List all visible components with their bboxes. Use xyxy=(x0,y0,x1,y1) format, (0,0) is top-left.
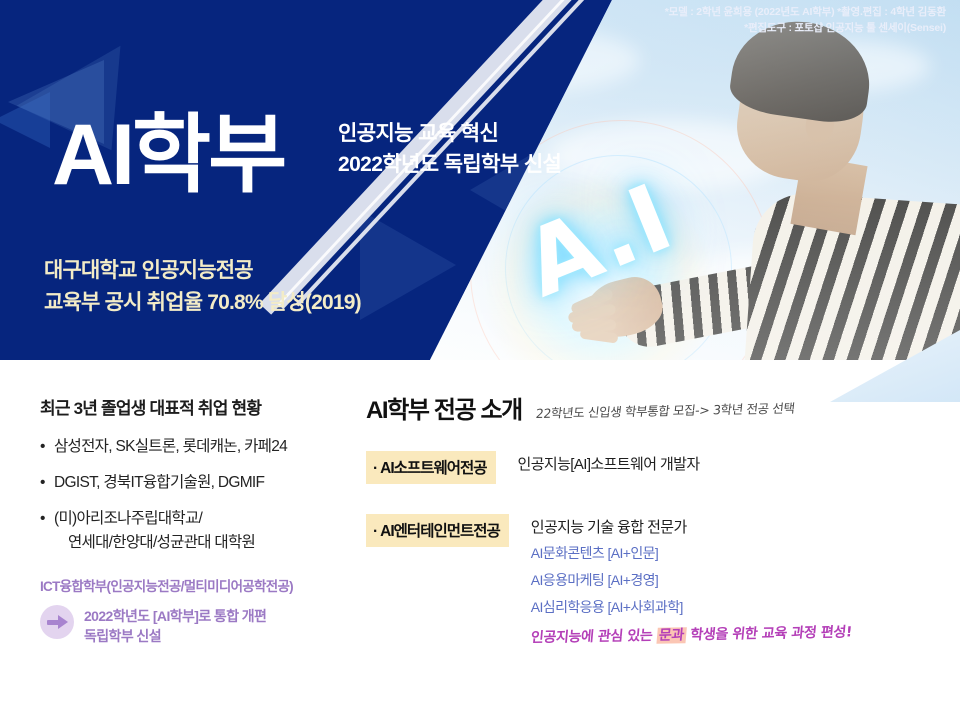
list-item: • (미)아리조나주립대학교/ 연세대/한양대/성균관대 대학원 xyxy=(40,507,350,555)
majors-handwritten-note: 22학년도 신입생 학부통합 모집-> 3학년 전공 선택 xyxy=(535,398,796,422)
employment-column: 최근 3년 졸업생 대표적 취업 현황 • 삼성전자, SK실트론, 롯데캐논,… xyxy=(40,394,350,567)
bullet-icon: • xyxy=(40,507,54,555)
majors-footer-note: 인공지능에 관심 있는 문과 학생을 위한 교육 과정 편성! xyxy=(530,621,853,647)
major-headline: 인공지능[AI]소프트웨어 개발자 xyxy=(518,454,700,475)
major-track: AI심리학응용 [AI+사회과학] xyxy=(531,595,851,619)
ict-title: ICT융합학부(인공지능전공/멀티미디어공학전공) xyxy=(40,575,370,595)
hero-title: AI학부 xyxy=(52,114,284,197)
ict-note: 2022학년도 [AI학부]로 통합 개편 독립학부 신설 xyxy=(84,604,266,647)
list-item-text: DGIST, 경북IT융합기술원, DGMIF xyxy=(54,471,350,495)
hero-footer-line-2: 교육부 공시 취업율 70.8% 달성(2019) xyxy=(44,287,361,319)
majors-column: AI학부 전공 소개 22학년도 신입생 학부통합 모집-> 3학년 전공 선택… xyxy=(366,390,936,677)
decorative-triangle-5 xyxy=(360,210,456,320)
list-item-text-main: (미)아리조나주립대학교/ xyxy=(54,510,202,527)
chip-bullet-icon: · xyxy=(373,523,377,540)
major-chip: ·AI소프트웨어전공 xyxy=(366,451,496,484)
credits-line-1: *모델 : 2학년 윤희용 (2022년도 AI학부) *촬영.편집 : 4학년… xyxy=(665,5,946,21)
major-chip: ·AI엔터테인먼트전공 xyxy=(366,514,509,547)
list-item: • DGIST, 경북IT융합기술원, DGMIF xyxy=(40,471,350,495)
footer-note-highlight: 문과 xyxy=(656,627,686,644)
major-item: ·AI엔터테인먼트전공 인공지능 기술 융합 전문가 AI문화콘텐츠 [AI+인… xyxy=(366,514,936,647)
arrow-right-icon xyxy=(40,605,74,639)
major-item: ·AI소프트웨어전공 인공지능[AI]소프트웨어 개발자 xyxy=(366,451,936,484)
ict-note-row: 2022학년도 [AI학부]로 통합 개편 독립학부 신설 xyxy=(40,604,370,647)
hero-banner: A.I *모델 : 2학년 윤희용 (2022년도 AI학부) *촬영.편집 :… xyxy=(0,0,960,360)
majors-heading: AI학부 전공 소개 xyxy=(366,390,522,425)
hero-footer: 대구대학교 인공지능전공 교육부 공시 취업율 70.8% 달성(2019) xyxy=(44,255,361,318)
major-description: 인공지능[AI]소프트웨어 개발자 xyxy=(518,451,700,475)
ict-note-line-1: 2022학년도 [AI학부]로 통합 개편 xyxy=(84,606,266,626)
chip-bullet-icon: · xyxy=(373,460,377,477)
major-name: AI소프트웨어전공 xyxy=(380,460,486,477)
major-track: AI응용마케팅 [AI+경영] xyxy=(531,568,851,592)
list-item-text: 삼성전자, SK실트론, 롯데캐논, 카페24 xyxy=(54,435,350,459)
hero-footer-line-1: 대구대학교 인공지능전공 xyxy=(44,255,361,287)
major-name: AI엔터테인먼트전공 xyxy=(380,523,500,540)
employment-heading: 최근 3년 졸업생 대표적 취업 현황 xyxy=(40,394,350,419)
decorative-triangle-3 xyxy=(0,92,50,148)
major-description: 인공지능 기술 융합 전문가 AI문화콘텐츠 [AI+인문] AI응용마케팅 [… xyxy=(531,514,851,647)
bullet-icon: • xyxy=(40,435,54,459)
ict-note-line-2: 독립학부 신설 xyxy=(84,626,266,646)
majors-header-row: AI학부 전공 소개 22학년도 신입생 학부통합 모집-> 3학년 전공 선택 xyxy=(366,390,936,425)
bullet-icon: • xyxy=(40,471,54,495)
list-item: • 삼성전자, SK실트론, 롯데캐논, 카페24 xyxy=(40,435,350,459)
list-item-text: (미)아리조나주립대학교/ 연세대/한양대/성균관대 대학원 xyxy=(54,507,350,555)
footer-note-after: 학생을 위한 교육 과정 편성! xyxy=(685,624,852,643)
list-item-text-sub: 연세대/한양대/성균관대 대학원 xyxy=(68,531,350,555)
ict-reorg-block: ICT융합학부(인공지능전공/멀티미디어공학전공) 2022학년도 [AI학부]… xyxy=(40,575,370,647)
credits-line-2: *편집도구 : 포토샵 인공지능 툴 센세이(Sensei) xyxy=(665,21,946,37)
slide-root: A.I *모델 : 2학년 윤희용 (2022년도 AI학부) *촬영.편집 :… xyxy=(0,0,960,720)
major-headline: 인공지능 기술 융합 전문가 xyxy=(531,517,851,538)
hero-subtitle-line-2: 2022학년도 독립학부 신설 xyxy=(338,149,561,180)
content-area: 최근 3년 졸업생 대표적 취업 현황 • 삼성전자, SK실트론, 롯데캐논,… xyxy=(0,360,960,720)
majors-list: ·AI소프트웨어전공 인공지능[AI]소프트웨어 개발자 ·AI엔터테인먼트전공… xyxy=(366,451,936,647)
hero-subtitle-line-1: 인공지능 교육 혁신 xyxy=(338,118,561,149)
hero-subtitle: 인공지능 교육 혁신 2022학년도 독립학부 신설 xyxy=(338,118,561,180)
credits-block: *모델 : 2학년 윤희용 (2022년도 AI학부) *촬영.편집 : 4학년… xyxy=(665,5,946,37)
footer-note-before: 인공지능에 관심 있는 xyxy=(530,627,657,645)
major-track: AI문화콘텐츠 [AI+인문] xyxy=(531,541,851,565)
